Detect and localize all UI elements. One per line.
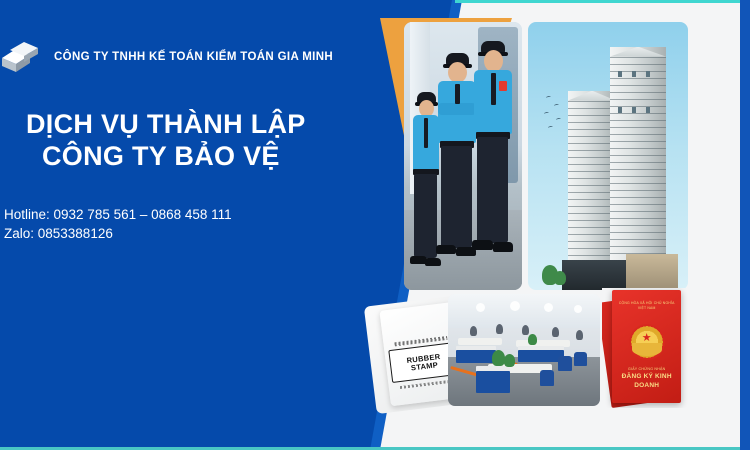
apartment-building-photo [528, 22, 688, 290]
business-registration-certificate-photo: CỘNG HÒA XÃ HỘI CHỦ NGHĨA VIỆT NAM ★ GIẤ… [602, 288, 688, 408]
headline-line-1: DỊCH VỤ THÀNH LẬP [26, 108, 356, 140]
contact-block: Hotline: 0932 785 561 – 0868 458 111 Zal… [4, 205, 232, 243]
photo-collage: RUBBER STAMP [352, 0, 740, 450]
right-edge-bar [740, 0, 750, 450]
security-guards-photo [404, 22, 522, 290]
certificate-label-main: ĐĂNG KÝ KINH DOANH [616, 372, 677, 390]
brand-header: CÔNG TY TNHH KẾ TOÁN KIỂM TOÁN GIA MINH [0, 40, 333, 74]
headline-line-2: CÔNG TY BẢO VỆ [26, 140, 356, 172]
stamp-line-2: STAMP [411, 361, 439, 372]
hotline-text[interactable]: Hotline: 0932 785 561 – 0868 458 111 [4, 205, 232, 224]
zalo-text[interactable]: Zalo: 0853388126 [4, 224, 232, 243]
office-interior-photo [448, 294, 600, 406]
top-teal-accent [455, 0, 740, 3]
banner-stage: CÔNG TY TNHH KẾ TOÁN KIỂM TOÁN GIA MINH … [0, 0, 750, 450]
gm-cube-logo-icon [0, 40, 44, 74]
page-title: DỊCH VỤ THÀNH LẬP CÔNG TY BẢO VỆ [26, 108, 356, 172]
company-name: CÔNG TY TNHH KẾ TOÁN KIỂM TOÁN GIA MINH [54, 51, 333, 63]
certificate-header: CỘNG HÒA XÃ HỘI CHỦ NGHĨA VIỆT NAM [618, 301, 676, 311]
